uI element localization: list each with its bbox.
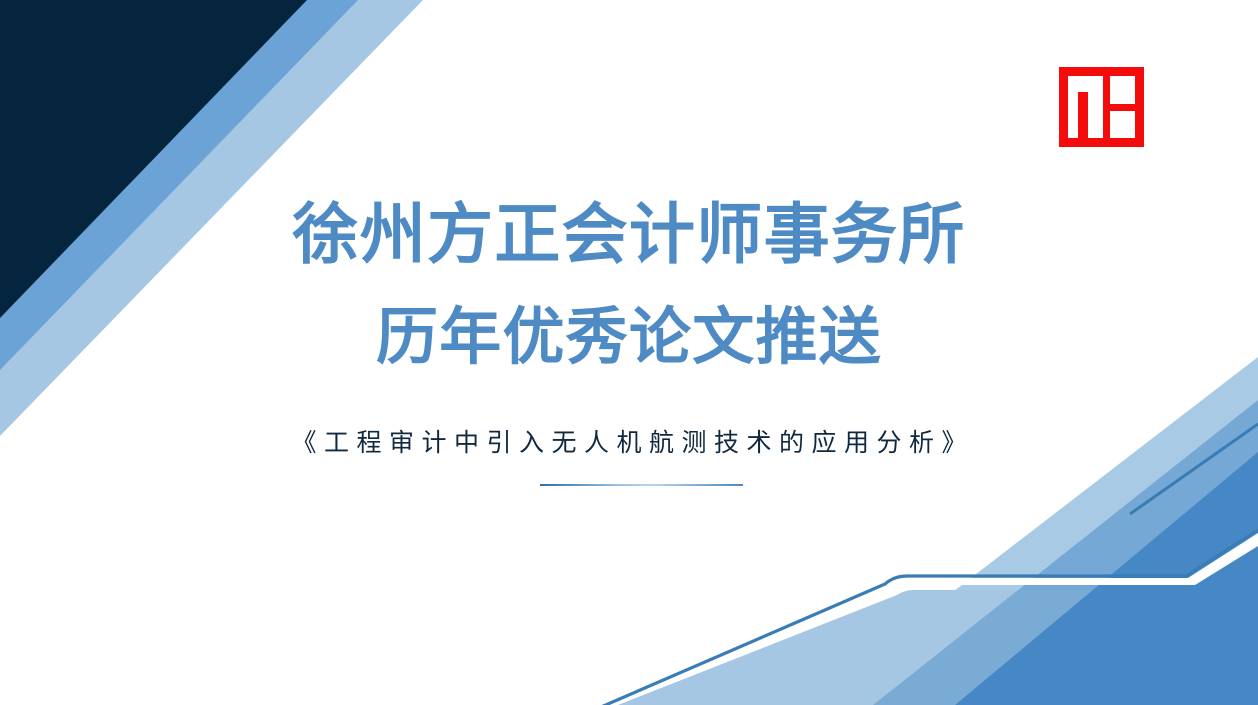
presentation-slide: 徐州方正会计师事务所 历年优秀论文推送 《工程审计中引入无人机航测技术的应用分析…	[0, 0, 1258, 705]
divider-rule	[540, 484, 743, 486]
title-block: 徐州方正会计师事务所 历年优秀论文推送 《工程审计中引入无人机航测技术的应用分析…	[0, 0, 1258, 705]
page-title-line-2: 历年优秀论文推送	[0, 298, 1258, 378]
page-title-line-1: 徐州方正会计师事务所	[0, 192, 1258, 276]
paper-title-subtitle: 《工程审计中引入无人机航测技术的应用分析》	[0, 424, 1258, 462]
